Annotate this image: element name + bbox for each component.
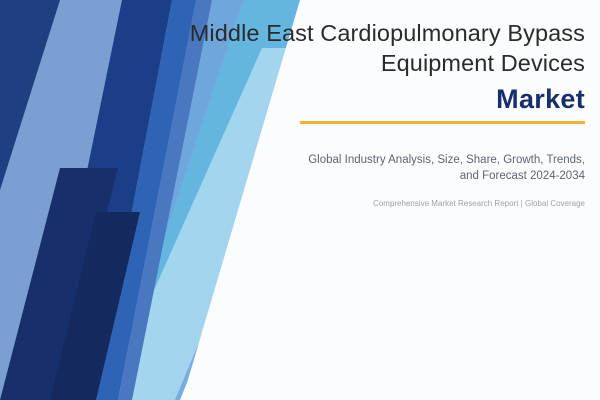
report-cover-page: Middle East Cardiopulmonary Bypass Equip… (0, 0, 600, 400)
market-heading-wrap: Market (300, 84, 585, 124)
market-underline-rule (300, 121, 585, 124)
cover-content: Middle East Cardiopulmonary Bypass Equip… (0, 0, 600, 400)
report-caption: Comprehensive Market Research Report | G… (300, 198, 585, 210)
report-subtitle: Global Industry Analysis, Size, Share, G… (300, 152, 585, 184)
market-heading: Market (496, 84, 585, 121)
report-title: Middle East Cardiopulmonary Bypass Equip… (120, 18, 585, 78)
